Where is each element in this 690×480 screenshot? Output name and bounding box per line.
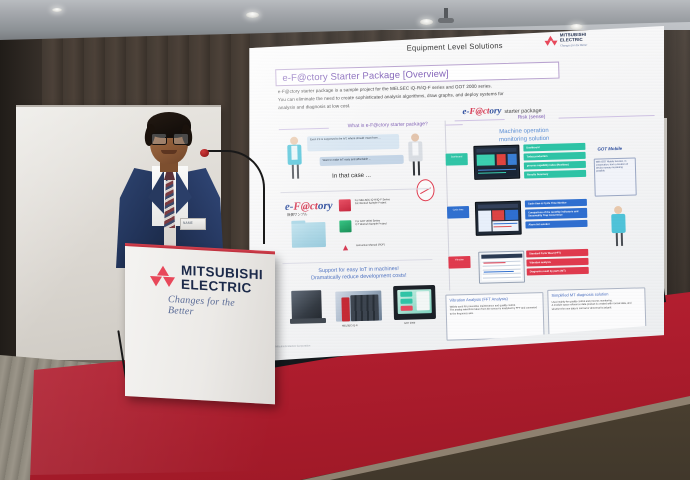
podium-brand-line-2: ELECTRIC <box>181 277 263 295</box>
brand-red: F@ct <box>293 200 318 213</box>
ceiling-fixture <box>444 8 448 20</box>
ceiling-spotlight <box>420 19 433 25</box>
left-section-heading: What is e-F@ctory starter package? <box>333 121 443 130</box>
logo-line-2: ELECTRIC <box>560 37 587 42</box>
plc-modules <box>350 295 379 322</box>
microphone-head-icon <box>200 149 209 157</box>
brand-sub-label: 無償サンプル <box>287 213 307 217</box>
presentation-photo: Equipment Level Solutions MITSUBISHI ELE… <box>0 0 690 480</box>
podium-logo: MITSUBISHI ELECTRIC Changes for the Bett… <box>150 262 262 321</box>
hardware-base <box>290 318 326 324</box>
hardware-label-iqr: MELSEC iQ-R <box>342 324 357 327</box>
side-tab-vibration-label: Vibration <box>450 259 468 262</box>
slide-title-box: e-F@ctory Starter Package [Overview] <box>275 62 559 87</box>
logo-tagline: Changes for the Better <box>560 43 587 48</box>
slide-content: Equipment Level Solutions MITSUBISHI ELE… <box>246 15 673 362</box>
eyeglasses-icon <box>150 133 188 143</box>
ceiling-spotlight <box>246 12 259 18</box>
got-mobile-logo: GOT Mobile <box>597 146 622 152</box>
monitor-dashboard <box>473 145 520 180</box>
mitsubishi-diamond-icon <box>544 35 557 46</box>
file-label-1: For MELSEC iQ-R/iQ-F Series GX Works3 Sa… <box>355 197 419 205</box>
file-icon-gxworks3 <box>339 199 351 211</box>
slide-header-title: Equipment Level Solutions <box>407 41 503 53</box>
brand-suffix: ory <box>489 105 501 115</box>
file-label-3: Instruction Manual (PDF) <box>356 242 420 247</box>
left-footer-text: Support for easy IoT in machines! Dramat… <box>273 265 445 284</box>
side-tab-dashboard-label: Dashboard <box>448 156 466 159</box>
slide-title: e-F@ctory Starter Package [Overview] <box>282 68 449 83</box>
intro-line-3: analysis and diagnosis at low cost. <box>278 103 350 110</box>
got-mobile-note: With GOT Mobile function, in cooperation… <box>596 160 632 173</box>
ceiling-spotlight <box>52 8 62 12</box>
slide-mitsubishi-logo: MITSUBISHI ELECTRIC Changes for the Bett… <box>544 33 587 48</box>
name-badge-text: NAME <box>183 221 193 225</box>
green-bar-2-label: Today production <box>527 155 548 159</box>
monitor-cycletime <box>475 201 522 236</box>
callout-text: In that case ... <box>332 172 371 180</box>
brand-prefix: e- <box>285 201 294 213</box>
panel-seam <box>16 105 221 107</box>
blue-bar-3-label: Alarm list monitor <box>528 223 549 227</box>
mitsubishi-diamond-icon <box>150 265 176 288</box>
monitor-vibration <box>478 251 525 284</box>
projection-screen: Equipment Level Solutions MITSUBISHI ELE… <box>246 26 664 366</box>
red-bar-2-label: Vibration analysis <box>529 261 550 265</box>
efactory-brand-left: e- F@ct ory <box>285 200 333 213</box>
file-icon-gtworks3 <box>339 220 351 232</box>
brand-suffix: ory <box>318 200 333 212</box>
mouth <box>161 150 177 154</box>
hardware-label-got: GOT 2000 <box>404 322 415 325</box>
folder-icon <box>291 222 326 248</box>
green-bar-4-label: Results Summary <box>527 173 548 177</box>
microphone-stem <box>203 150 265 244</box>
right-subheading-1: Machine operation <box>479 127 569 135</box>
green-bar-1-label: Dashboard <box>526 146 539 149</box>
side-tab-cycletime-label: Cycle time <box>449 209 467 212</box>
right-section-heading: Risk (sense) <box>507 114 557 121</box>
slide-credit: © Mitsubishi Electric Corporation <box>273 344 311 348</box>
pdf-icon: ▲ <box>341 242 351 253</box>
file-label-2: For GOT 2000 Series GT Works3 Sample Pro… <box>355 218 419 226</box>
brand-red: F@ct <box>469 105 489 116</box>
prohibition-circle-icon <box>416 179 435 201</box>
right-subheading-2: monitoring solution <box>479 135 569 143</box>
plc-power-module <box>341 297 350 321</box>
